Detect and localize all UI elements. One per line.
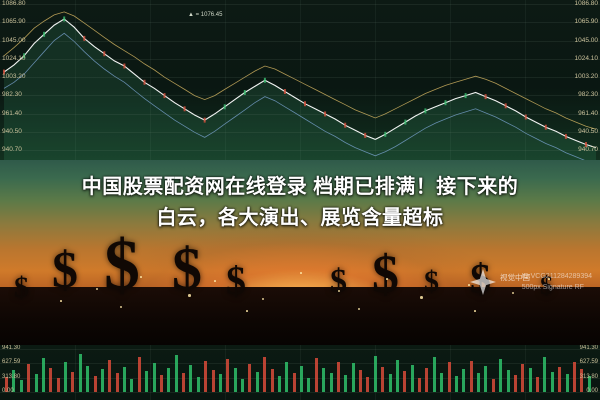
volume-bar: [411, 365, 414, 392]
candle: [445, 100, 447, 105]
volume-bar: [101, 369, 104, 392]
volume-bar: [440, 373, 443, 392]
dollar-sign-icon: $: [14, 273, 29, 303]
volume-bar: [558, 367, 561, 392]
volume-bar: [35, 374, 38, 392]
spark: [214, 280, 216, 282]
volume-bar: [212, 370, 215, 392]
volume-bar: [499, 359, 502, 392]
volume-bar: [71, 372, 74, 392]
volume-bar: [573, 362, 576, 392]
volume-bar: [425, 368, 428, 393]
volume-bar: [64, 362, 67, 392]
candle: [43, 32, 45, 37]
volume-bar: [293, 373, 296, 392]
volume-bar: [462, 369, 465, 392]
candle: [364, 133, 366, 138]
dollar-sign-icon: $: [52, 245, 78, 297]
dollar-sign-icon: $: [372, 247, 399, 301]
volume-bar: [366, 377, 369, 392]
volume-bar: [123, 367, 126, 392]
axis-tick-label: 940.50: [578, 128, 598, 135]
volume-bar: [219, 374, 222, 392]
volume-bar: [108, 360, 111, 392]
volume-bar: [241, 379, 244, 392]
volume-bar: [57, 378, 60, 392]
volume-bar: [234, 368, 237, 393]
candle: [304, 101, 306, 106]
volume-bar: [580, 369, 583, 392]
volume-bar: [330, 373, 333, 392]
candle: [184, 106, 186, 111]
volume-bar: [470, 361, 473, 392]
headline-line-1: 中国股票配资网在线登录 档期已排满！接下来的: [82, 176, 519, 198]
volume-bar: [448, 362, 451, 392]
candle: [565, 134, 567, 139]
volume-bar: [344, 375, 347, 392]
volume-bar: [271, 369, 274, 392]
spark: [262, 298, 264, 300]
axis-tick-label: 1065.90: [2, 18, 26, 25]
volume-bar: [307, 378, 310, 392]
spark: [474, 310, 476, 312]
spark: [120, 306, 122, 308]
axis-tick-label: 941.30: [580, 345, 598, 351]
candle: [284, 89, 286, 94]
axis-tick-label: 1065.90: [575, 18, 599, 25]
spark: [512, 292, 514, 294]
spark: [188, 294, 191, 297]
axis-tick-label: 982.30: [578, 91, 598, 98]
candle: [63, 17, 65, 22]
volume-bar: [543, 357, 546, 393]
headline-line-2: 白云，各大演出、展览含量超标: [0, 203, 600, 234]
gridline: [150, 345, 151, 400]
volume-bar: [484, 366, 487, 392]
axis-tick-label: 982.30: [2, 91, 22, 98]
volume-bar: [322, 368, 325, 392]
volume-bar: [418, 378, 421, 392]
screenshot-root: 1086.801065.901045.001024.101003.20982.3…: [0, 0, 600, 400]
spark: [358, 308, 360, 310]
volume-bar: [566, 374, 569, 392]
candle: [404, 120, 406, 125]
volume-bar: [145, 371, 148, 392]
volume-bar: [396, 360, 399, 392]
axis-tick-label: 313.80: [2, 374, 20, 380]
volume-bar: [79, 354, 82, 392]
volume-bar: [94, 376, 97, 392]
gridline: [375, 0, 376, 160]
dollar-sign-icon: $: [172, 239, 202, 299]
candle: [264, 78, 266, 83]
volume-bar: [263, 357, 266, 393]
dollar-sign-icon: $: [104, 229, 140, 301]
axis-tick-label: 961.40: [2, 110, 22, 117]
volume-bar: [49, 368, 52, 393]
headline: 中国股票配资网在线登录 档期已排满！接下来的 白云，各大演出、展览含量超标: [0, 172, 600, 234]
dollar-sign-icon: $: [226, 261, 246, 301]
volume-bar: [315, 358, 318, 392]
candle: [505, 103, 507, 108]
volume-bar: [153, 363, 156, 392]
spark: [96, 288, 98, 290]
spark: [300, 272, 302, 274]
volume-bar: [175, 355, 178, 392]
spark: [246, 310, 248, 312]
gridline: [75, 0, 76, 160]
axis-tick-label: 940.70: [2, 146, 22, 153]
volume-bar: [197, 377, 200, 392]
axis-tick-label: 627.59: [2, 359, 20, 365]
volume-bar: [130, 379, 133, 393]
volume-bar: [551, 372, 554, 392]
gridline: [150, 0, 151, 160]
spark: [386, 278, 388, 280]
spark: [60, 300, 62, 302]
volume-bar: [381, 367, 384, 392]
volume-bar: [477, 373, 480, 392]
axis-tick-label: 627.59: [580, 359, 598, 365]
volume-bar: [337, 362, 340, 392]
volume-bar: [138, 357, 141, 392]
sunset-photo: $ $ $ $ $ $ $ $ $ $ 中国股票配资网在线登录 档期已排满！接下…: [0, 160, 600, 345]
gridline: [75, 345, 76, 400]
watermark-license: 500px Signature RF: [522, 283, 592, 294]
volume-bar: [536, 377, 539, 392]
volume-bar: [529, 368, 532, 392]
foreground-ground: [0, 287, 600, 345]
volume-bar: [492, 379, 495, 393]
axis-tick-label: 1045.00: [2, 37, 26, 44]
axis-tick-label: 1024.10: [575, 55, 599, 62]
volume-bar: [160, 375, 163, 392]
axis-tick-label: 1086.80: [575, 0, 599, 7]
axis-tick-label: 0.00: [2, 388, 14, 394]
spark: [420, 296, 423, 299]
volume-bar: [204, 361, 207, 392]
candle: [144, 80, 146, 85]
volume-bar: [352, 363, 355, 392]
axis-tick-label: 1045.00: [575, 37, 599, 44]
volume-bar: [116, 373, 119, 392]
gridline: [525, 345, 526, 400]
axis-tick-label: 0.00: [586, 388, 598, 394]
axis-tick-label: 1003.20: [575, 73, 599, 80]
watermark-id: ID:VCG211284289394: [522, 272, 592, 283]
gridline: [450, 0, 451, 160]
axis-tick-label: 1024.10: [2, 55, 26, 62]
gridline: [300, 0, 301, 160]
candle: [344, 123, 346, 128]
volume-bar: [521, 364, 524, 392]
volume-bar: [359, 370, 362, 392]
volume-bar: [42, 358, 45, 392]
dollar-sign-icon: $: [424, 267, 439, 297]
volume-bar: [248, 364, 251, 392]
dollar-sign-icon: $: [330, 265, 347, 299]
candle: [103, 51, 105, 56]
axis-tick-label: 961.40: [578, 110, 598, 117]
axis-tick-label: 941.30: [2, 345, 20, 351]
volume-bar: [278, 376, 281, 392]
volume-bar: [20, 380, 23, 392]
spark: [468, 284, 470, 286]
volume-bar: [300, 366, 303, 392]
top-chart-annotation: ▲ = 1076.45: [188, 12, 222, 18]
volume-bar: [167, 368, 170, 392]
gridline: [525, 0, 526, 160]
spark: [140, 276, 142, 278]
volume-bar: [374, 356, 377, 392]
volume-bar: [389, 374, 392, 392]
axis-tick-label: 940.70: [578, 146, 598, 153]
volume-bar: [256, 372, 259, 392]
bottom-chart-panel: 941.30627.59313.800.00 941.30627.59313.8…: [0, 345, 600, 400]
axis-tick-label: 1003.20: [2, 73, 26, 80]
volume-bar: [285, 362, 288, 392]
volume-bar: [189, 365, 192, 392]
spark: [338, 290, 340, 292]
volume-bar: [433, 357, 436, 392]
volume-bar: [27, 364, 30, 392]
volume-bar: [86, 366, 89, 392]
candle: [123, 64, 125, 69]
volume-bar: [403, 371, 406, 392]
candle: [204, 118, 206, 123]
volume-bar: [455, 376, 458, 392]
volume-bar: [507, 370, 510, 392]
axis-tick-label: 940.50: [2, 128, 22, 135]
axis-tick-label: 1086.80: [2, 0, 26, 7]
volume-bar: [182, 373, 185, 392]
volume-bar: [226, 359, 229, 392]
watermark-info: ID:VCG211284289394 500px Signature RF: [522, 272, 592, 293]
axis-tick-label: 313.80: [580, 374, 598, 380]
top-chart-panel: 1086.801065.901045.001024.101003.20982.3…: [0, 0, 600, 160]
candle: [244, 90, 246, 95]
gridline: [225, 0, 226, 160]
candle: [545, 125, 547, 130]
volume-bar: [514, 375, 517, 392]
